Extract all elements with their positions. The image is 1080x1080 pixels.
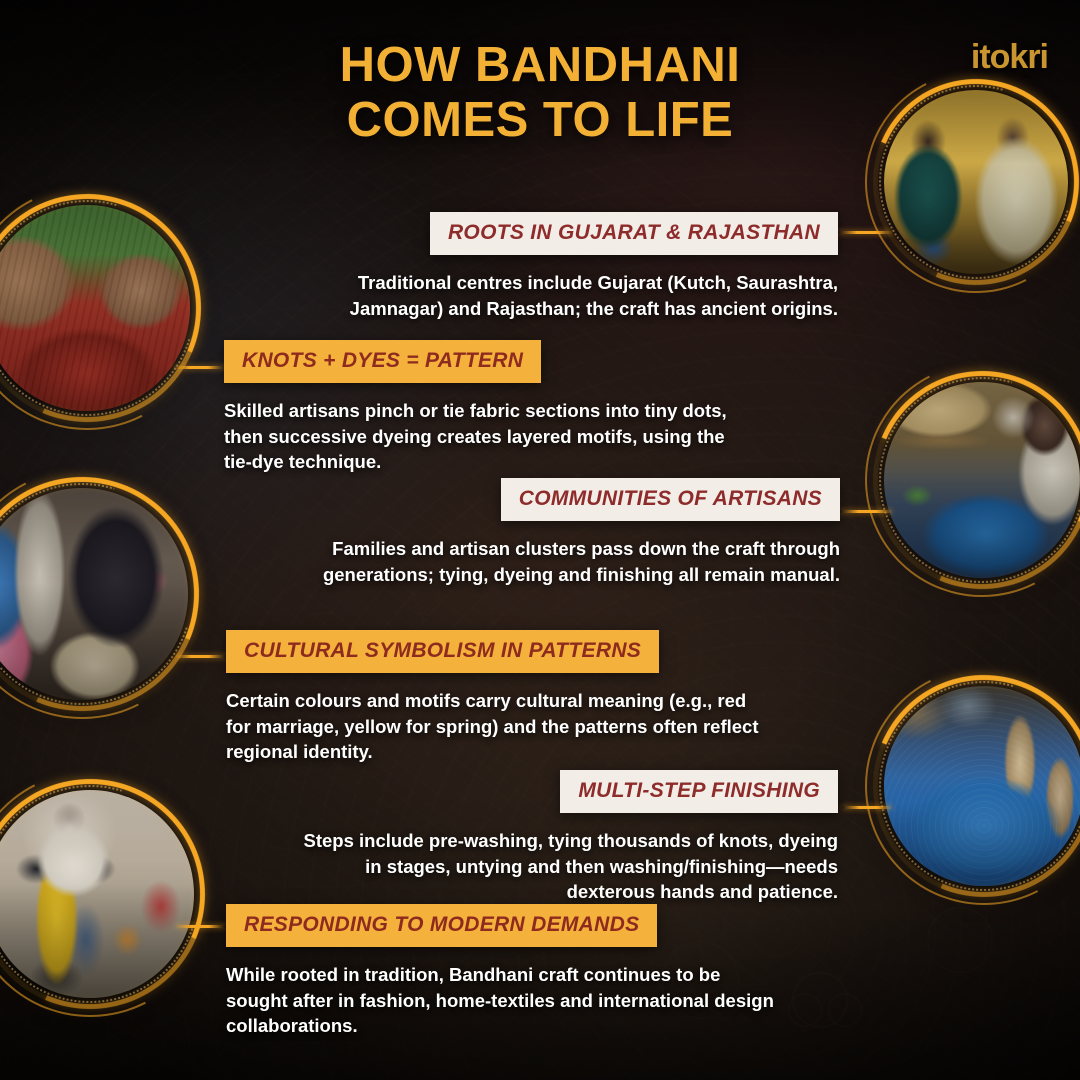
photo-gloved-hands-blue-dye [884,686,1080,886]
block-finishing: MULTI-STEP FINISHING Steps include pre-w… [300,770,838,905]
block-body-finishing: Steps include pre-washing, tying thousan… [300,828,838,905]
connector-line-modern [176,925,226,928]
photo-woman-tying-cream-cloth [0,488,188,700]
title-line-1: HOW BANDHANI [340,38,741,92]
block-body-roots: Traditional centres include Gujarat (Kut… [278,270,838,321]
block-heading-communities: COMMUNITIES OF ARTISANS [501,478,840,521]
scene-shade [884,382,1080,578]
block-body-communities: Families and artisan clusters pass down … [240,536,840,587]
connector-line-knots [174,366,226,369]
block-communities: COMMUNITIES OF ARTISANS Families and art… [240,478,840,587]
scene-shade [0,205,190,411]
title-line-2: COMES TO LIFE [0,93,1080,148]
block-body-symbolism: Certain colours and motifs carry cultura… [226,688,766,765]
scene-shade [0,488,188,700]
page-title: HOW BANDHANI COMES TO LIFE [0,38,1080,148]
infographic-poster: HOW BANDHANI COMES TO LIFE itokri [0,0,1080,1080]
scene-shade [884,686,1080,886]
block-heading-knots: KNOTS + DYES = PATTERN [224,340,541,383]
photo-disc [0,488,188,700]
scene-shade [0,790,194,998]
block-body-knots: Skilled artisans pinch or tie fabric sec… [224,398,754,475]
block-heading-modern: RESPONDING TO MODERN DEMANDS [226,904,657,947]
connector-line-roots [838,231,892,234]
block-heading-symbolism: CULTURAL SYMBOLISM IN PATTERNS [226,630,659,673]
photo-disc [884,686,1080,886]
block-symbolism: CULTURAL SYMBOLISM IN PATTERNS Certain c… [226,630,766,765]
block-roots: ROOTS IN GUJARAT & RAJASTHAN Traditional… [278,212,838,321]
block-modern: RESPONDING TO MODERN DEMANDS While roote… [226,904,786,1039]
photo-hands-tying-red-cloth [0,205,190,411]
block-knots: KNOTS + DYES = PATTERN Skilled artisans … [224,340,754,475]
photo-dyer-blue-vat [884,382,1080,578]
photo-disc [0,790,194,998]
photo-disc [884,382,1080,578]
block-heading-roots: ROOTS IN GUJARAT & RAJASTHAN [430,212,838,255]
photo-disc [0,205,190,411]
connector-line-finishing [842,806,892,809]
block-heading-finishing: MULTI-STEP FINISHING [560,770,838,813]
block-body-modern: While rooted in tradition, Bandhani craf… [226,962,786,1039]
connector-line-symbolism [176,655,226,658]
connector-line-communities [840,510,892,513]
itokri-logo[interactable]: itokri [971,38,1048,77]
photo-man-lifting-yellow-fabric [0,790,194,998]
